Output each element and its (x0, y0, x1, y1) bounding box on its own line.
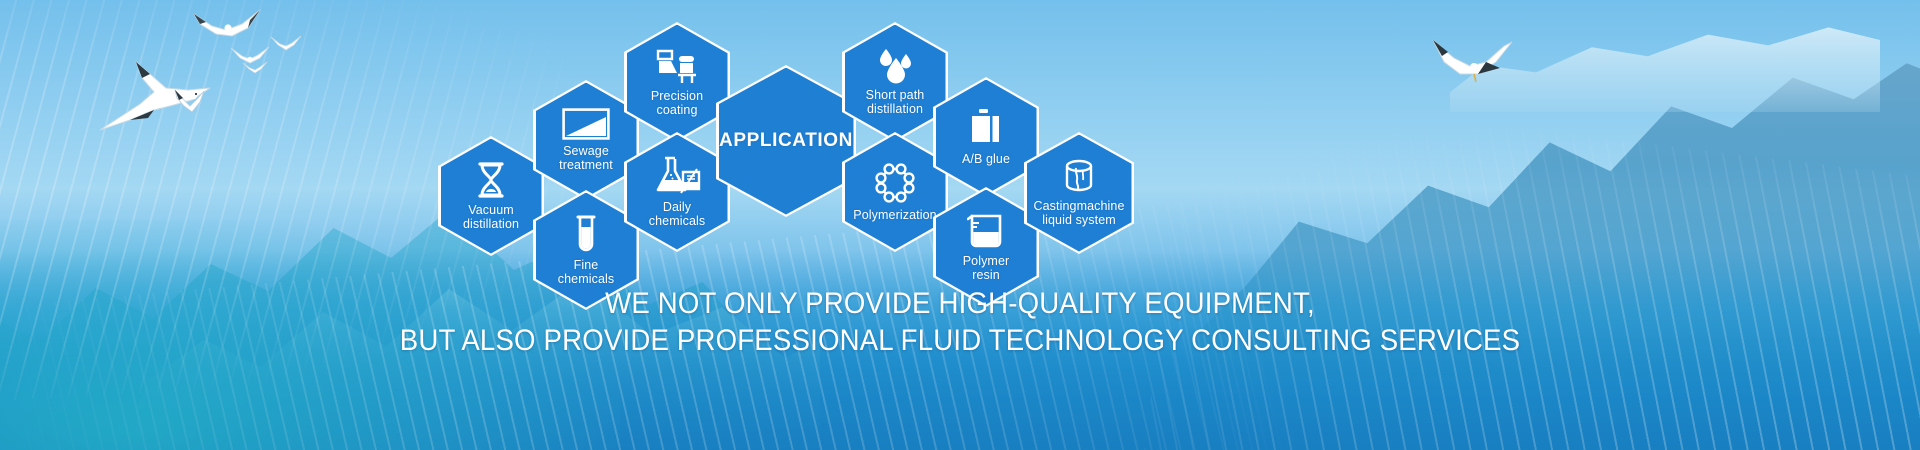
application-banner: Vacuum distillation Sewage treatment (0, 0, 1920, 450)
hex-label: Sewage treatment (559, 144, 613, 172)
casting-drum-icon (1062, 159, 1096, 195)
hex-label: Fine chemicals (558, 258, 614, 286)
hex-short-path-distillation[interactable]: Short path distillation (842, 22, 948, 142)
flask-and-beaker-icon (653, 156, 701, 196)
tagline: WE NOT ONLY PROVIDE HIGH-QUALITY EQUIPME… (0, 286, 1920, 359)
tagline-line-2: BUT ALSO PROVIDE PROFESSIONAL FLUID TECH… (77, 323, 1843, 360)
hex-label: Daily chemicals (649, 200, 705, 228)
hex-daily-chemicals[interactable]: Daily chemicals (624, 132, 730, 252)
center-label: APPLICATION (719, 130, 853, 151)
hourglass-icon (475, 161, 507, 199)
hex-vacuum-distillation[interactable]: Vacuum distillation (438, 136, 544, 256)
test-tube-icon (574, 214, 598, 254)
hex-sewage-treatment[interactable]: Sewage treatment (533, 80, 639, 200)
hex-label: Polymerization (853, 208, 936, 222)
hex-polymerization[interactable]: Polymerization (842, 132, 948, 252)
application-hex-cluster: Vacuum distillation Sewage treatment (0, 0, 1920, 450)
hex-label: A/B glue (962, 152, 1010, 166)
hex-label: Precision coating (651, 89, 703, 117)
coating-machine-icon (656, 47, 698, 85)
hex-label: Short path distillation (866, 88, 925, 116)
water-drops-icon (875, 48, 915, 84)
hex-castingmachine-liquid-system[interactable]: Castingmachine liquid system (1024, 132, 1134, 254)
tagline-line-1: WE NOT ONLY PROVIDE HIGH-QUALITY EQUIPME… (77, 286, 1843, 323)
molecule-ring-icon (874, 162, 916, 204)
hex-label: Vacuum distillation (463, 203, 519, 231)
filter-panel-icon (562, 108, 610, 140)
hex-label: Castingmachine liquid system (1033, 199, 1124, 227)
beaker-pour-icon (967, 212, 1005, 250)
hex-precision-coating[interactable]: Precision coating (624, 22, 730, 142)
hex-ab-glue[interactable]: A/B glue (933, 77, 1039, 197)
hex-center-application[interactable]: APPLICATION (716, 65, 856, 217)
glue-canister-icon (969, 108, 1003, 148)
hex-label: Polymer resin (963, 254, 1010, 282)
